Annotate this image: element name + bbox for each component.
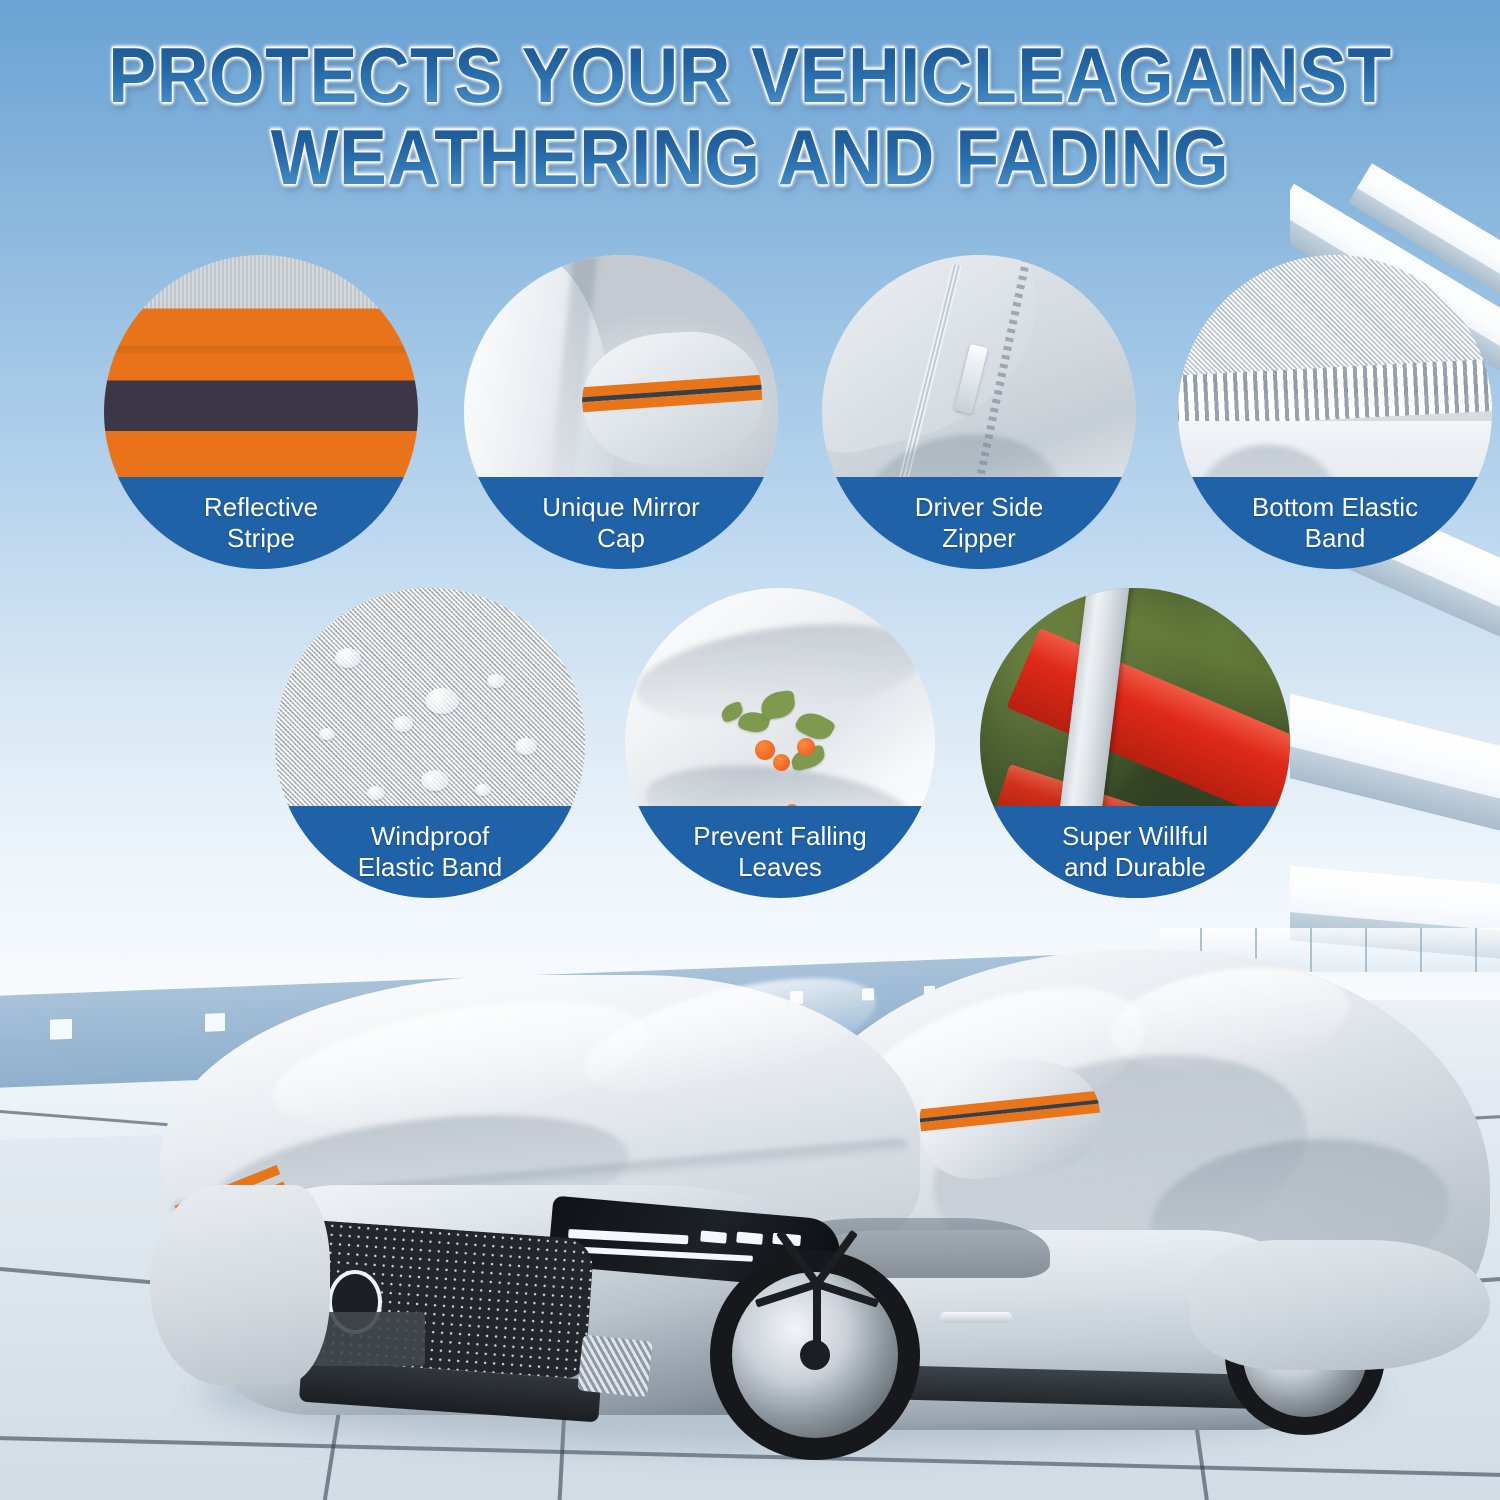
cover-hem-rear	[1190, 1240, 1490, 1370]
feature-reflective-stripe[interactable]: Reflective Stripe	[104, 255, 418, 569]
feature-caption: Prevent Falling Leaves	[625, 806, 935, 898]
product-infographic: PROTECTS YOUR VEHICLEAGAINST WEATHERING …	[0, 0, 1500, 1500]
caption-line-2: Cap	[597, 523, 645, 553]
feature-caption: Bottom Elastic Band	[1178, 477, 1492, 569]
feature-caption: Windproof Elastic Band	[275, 806, 585, 898]
feature-unique-mirror-cap[interactable]: Unique Mirror Cap	[464, 255, 778, 569]
side-vent	[577, 1334, 652, 1397]
caption-line-1: Bottom Elastic	[1252, 492, 1418, 522]
feature-super-willful-and-durable[interactable]: Super Willful and Durable	[980, 588, 1290, 898]
feature-caption: Driver Side Zipper	[822, 477, 1136, 569]
caption-line-2: Stripe	[227, 523, 295, 553]
cover-hem-front	[150, 1185, 330, 1385]
door-handle	[940, 1312, 1012, 1323]
feature-prevent-falling-leaves[interactable]: Prevent Falling Leaves	[625, 588, 935, 898]
feature-caption: Super Willful and Durable	[980, 806, 1290, 898]
page-title: PROTECTS YOUR VEHICLEAGAINST WEATHERING …	[60, 34, 1440, 198]
caption-line-1: Windproof	[371, 821, 490, 851]
front-wheel	[710, 1250, 920, 1460]
feature-bottom-elastic-band[interactable]: Bottom Elastic Band	[1178, 255, 1492, 569]
headline-line-1: PROTECTS YOUR VEHICLEAGAINST	[60, 34, 1440, 116]
headline-line-2: WEATHERING AND FADING	[60, 116, 1440, 198]
caption-line-2: and Durable	[1064, 852, 1206, 882]
caption-line-2: Leaves	[738, 852, 822, 882]
caption-line-2: Elastic Band	[358, 852, 503, 882]
caption-line-1: Prevent Falling	[693, 821, 866, 851]
caption-line-1: Reflective	[204, 492, 318, 522]
caption-line-1: Super Willful	[1062, 821, 1208, 851]
caption-line-2: Band	[1305, 523, 1366, 553]
feature-caption: Unique Mirror Cap	[464, 477, 778, 569]
feature-windproof-elastic-band[interactable]: Windproof Elastic Band	[275, 588, 585, 898]
caption-line-2: Zipper	[942, 523, 1016, 553]
covered-vehicle	[150, 940, 1470, 1460]
caption-line-1: Unique Mirror	[542, 492, 700, 522]
caption-line-1: Driver Side	[915, 492, 1044, 522]
feature-driver-side-zipper[interactable]: Driver Side Zipper	[822, 255, 1136, 569]
feature-caption: Reflective Stripe	[104, 477, 418, 569]
